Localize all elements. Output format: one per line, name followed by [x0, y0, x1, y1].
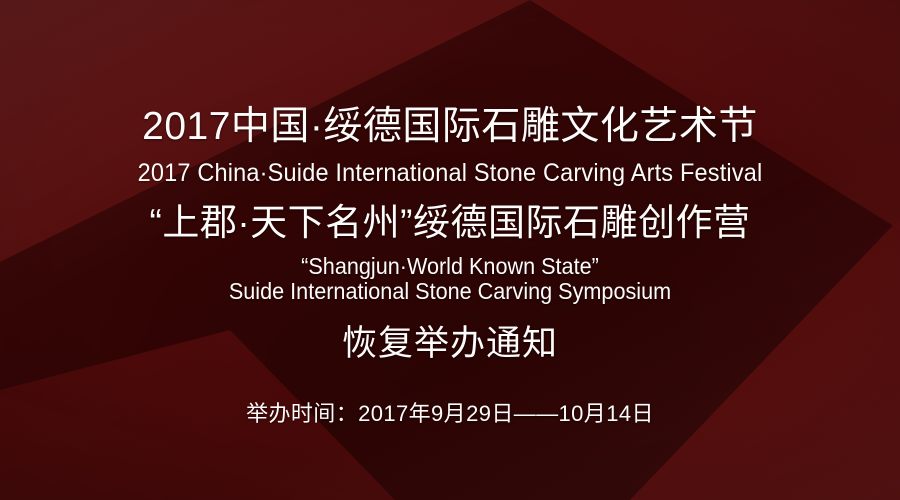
poster-banner: 2017中国·绥德国际石雕文化艺术节 2017 China·Suide Inte… — [0, 0, 900, 500]
symposium-subtitle-english-line1: “Shangjun·World Known State” — [27, 252, 873, 280]
notice-heading: 恢复举办通知 — [0, 323, 900, 365]
festival-title-english: 2017 China·Suide International Stone Car… — [27, 158, 873, 188]
event-date-line: 举办时间：2017年9月29日——10月14日 — [0, 400, 900, 428]
festival-title-chinese: 2017中国·绥德国际石雕文化艺术节 — [0, 105, 900, 149]
symposium-title-chinese: “上郡·天下名州”绥德国际石雕创作营 — [0, 201, 900, 245]
poster-content: 2017中国·绥德国际石雕文化艺术节 2017 China·Suide Inte… — [0, 0, 900, 500]
symposium-subtitle-english-line2: Suide International Stone Carving Sympos… — [27, 277, 873, 305]
